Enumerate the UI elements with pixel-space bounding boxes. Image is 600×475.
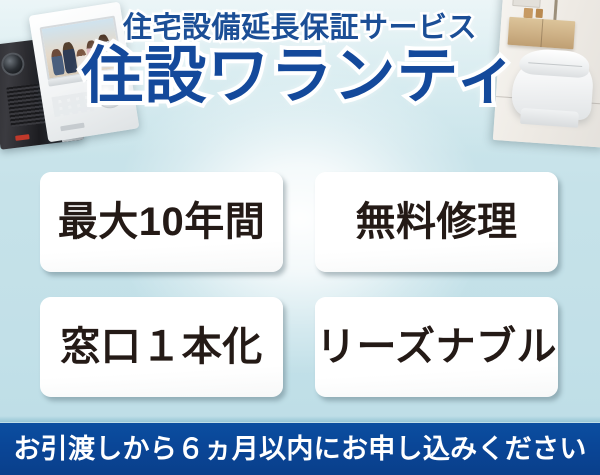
promo-banner: 住宅設備延長保証サービス 住設ワランティ 最大10年間 無料修理 窓口１本化 リ… [0, 0, 600, 475]
door-station-call-button [15, 134, 30, 141]
shelf-jar [523, 8, 533, 19]
shelf-jar [535, 9, 543, 18]
feature-card-reasonable[interactable]: リーズナブル [315, 297, 558, 397]
cta-banner[interactable]: お引渡しから６ヵ月以内にお申し込みください [0, 423, 600, 475]
wall-cabinet [508, 17, 576, 50]
monitor-logo [60, 123, 84, 132]
feature-label: 窓口１本化 [60, 327, 263, 367]
cabinet-door-split [540, 19, 543, 47]
feature-card-grid: 最大10年間 無料修理 窓口１本化 リーズナブル [40, 172, 558, 397]
feature-card-free-repair[interactable]: 無料修理 [315, 172, 558, 272]
feature-card-max-years[interactable]: 最大10年間 [40, 172, 283, 272]
monitor-dial-knob [94, 78, 126, 110]
cta-text: お引渡しから６ヵ月以内にお申し込みください [13, 436, 586, 463]
feature-label: 最大10年間 [58, 202, 266, 242]
toilet-bathroom-photo [493, 0, 600, 148]
monitor-keypad [52, 91, 95, 117]
feature-label: リーズナブル [316, 327, 557, 367]
feature-card-single-contact[interactable]: 窓口１本化 [40, 297, 283, 397]
feature-label: 無料修理 [356, 202, 518, 242]
background-bottom-strip [0, 416, 600, 422]
camera-lens-icon [2, 54, 23, 75]
intercom-monitor-photo [29, 2, 140, 143]
